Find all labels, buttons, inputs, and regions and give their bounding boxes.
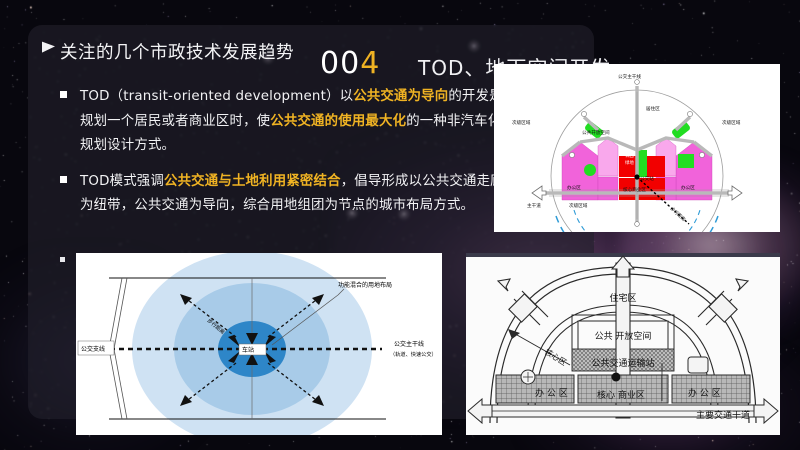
- plain-text: TOD（transit-oriented development）以: [80, 89, 353, 104]
- label-office-left: 办公区: [567, 184, 581, 191]
- square-bullet-icon: [60, 91, 67, 98]
- label-bus-stop: 公交站: [640, 175, 654, 182]
- highlighted-text: 公共交通与土地利用紧密结合: [164, 174, 341, 189]
- label-residential: 住宅区: [609, 292, 636, 304]
- label-public-open-space: 公共 开放空间: [595, 330, 652, 342]
- label-office-right: 办 公 区: [688, 387, 721, 399]
- highlighted-text: 公共交通为导向: [353, 89, 448, 104]
- label-park-green: 公园: [625, 153, 634, 159]
- label-residential: 居住区: [646, 105, 660, 112]
- label-bus-trunk: 公交主干线: [394, 340, 424, 348]
- triangle-bullet-icon: [42, 42, 55, 58]
- label-sub-area-right: 次级区域: [722, 119, 741, 126]
- label-main-traffic-road: 主要交通干道: [696, 409, 750, 421]
- label-bus-branch: 公交支线: [81, 345, 105, 353]
- tod-sketch-figure: .s1{ font-family:"DejaVu Sans","Liberati…: [466, 253, 780, 435]
- label-bus-trunk: 公交主干线: [618, 73, 641, 80]
- list-item: TOD（transit-oriented development）以公共交通为导…: [60, 85, 515, 159]
- label-bus-trunk-sub: （轨道、快速公交）: [390, 350, 437, 358]
- label-sub-area-left: 次级区域: [512, 119, 531, 126]
- square-bullet-small-icon: [60, 257, 65, 262]
- highlighted-text: 公共交通的使用最大化: [270, 114, 406, 129]
- plain-text: TOD模式强调: [80, 174, 164, 189]
- label-mixed-use: 功能混合的用地布局: [338, 281, 392, 289]
- label-public-open-space: 公共开放空间: [582, 129, 610, 136]
- label-core-commercial: 核心 商业区: [597, 389, 645, 401]
- label-main-road: 主干道: [527, 202, 541, 209]
- section-number: 004: [320, 49, 380, 79]
- tod-color-plan-figure: .lbl{ font-family:"DejaVu Sans","Liberat…: [494, 64, 780, 232]
- label-office-left: 办 公 区: [535, 387, 568, 399]
- list-item: TOD模式强调公共交通与土地利用紧密结合，倡导形成以公共交通走廊为纽带，公共交通…: [60, 170, 515, 219]
- label-transit-station: 公共交通运输站: [591, 357, 654, 369]
- section-number-prefix: 00: [320, 46, 360, 81]
- label-office-right: 办公区: [681, 184, 695, 191]
- bullet-2-text: TOD模式强调公共交通与土地利用紧密结合，倡导形成以公共交通走廊为纽带，公共交通…: [80, 170, 515, 219]
- tod-concentric-figure: .l2{ font-family:"DejaVu Sans","Liberati…: [76, 253, 442, 435]
- bullet-1-text: TOD（transit-oriented development）以公共交通为导…: [80, 85, 515, 159]
- label-station: 车站: [242, 346, 254, 354]
- bullet-list: TOD（transit-oriented development）以公共交通为导…: [60, 85, 515, 230]
- page-title: 关注的几个市政技术发展趋势: [60, 39, 294, 64]
- square-bullet-icon: [60, 176, 67, 183]
- label-park-green-2: 绿地: [625, 159, 634, 166]
- label-core-commercial: 核心商业区: [623, 186, 646, 193]
- section-number-accent: 4: [360, 46, 380, 81]
- label-sub-area-bottom: 次级区域: [569, 202, 588, 209]
